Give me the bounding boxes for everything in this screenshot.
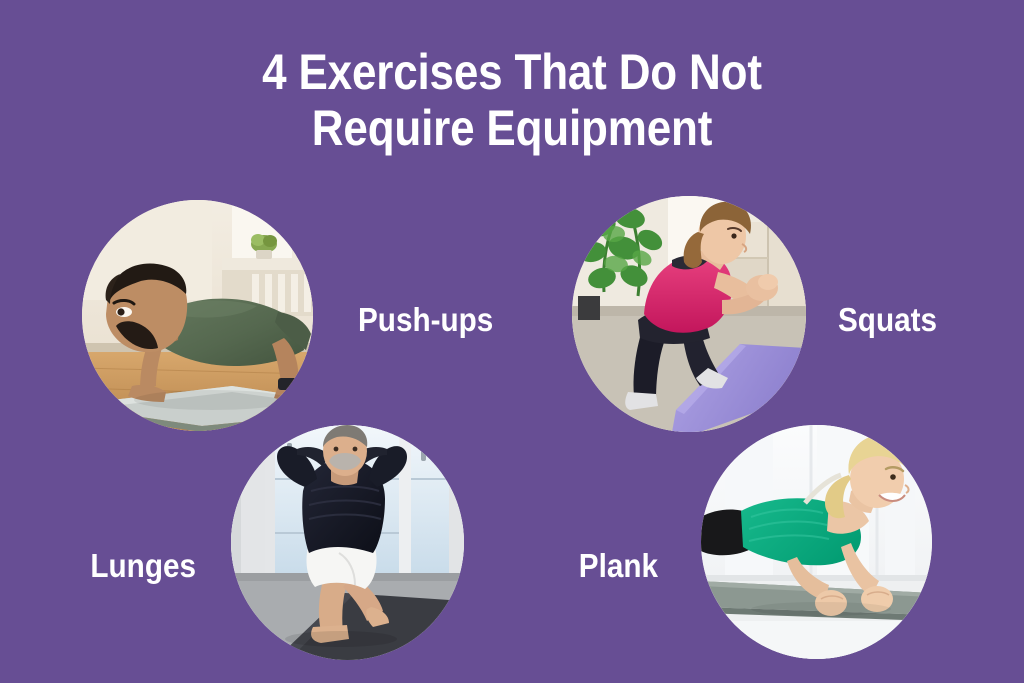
title-line-1: 4 Exercises That Do Not (61, 44, 962, 100)
exercise-infographic-poster: 4 Exercises That Do Not Require Equipmen… (0, 0, 1024, 683)
exercise-label-pushups: Push-ups (358, 303, 493, 336)
squats-illustration (572, 196, 806, 432)
exercise-label-lunges: Lunges (90, 549, 196, 582)
squats-photo (572, 196, 806, 432)
plank-photo (701, 425, 932, 659)
exercise-label-squats: Squats (838, 303, 937, 336)
page-title: 4 Exercises That Do Not Require Equipmen… (0, 44, 1024, 156)
lunges-photo (231, 425, 464, 660)
title-line-2: Require Equipment (61, 100, 962, 156)
lunges-illustration (231, 425, 464, 660)
pushups-photo (82, 200, 313, 431)
pushups-illustration (82, 200, 313, 431)
exercise-label-plank: Plank (579, 549, 658, 582)
plank-illustration (701, 425, 932, 659)
